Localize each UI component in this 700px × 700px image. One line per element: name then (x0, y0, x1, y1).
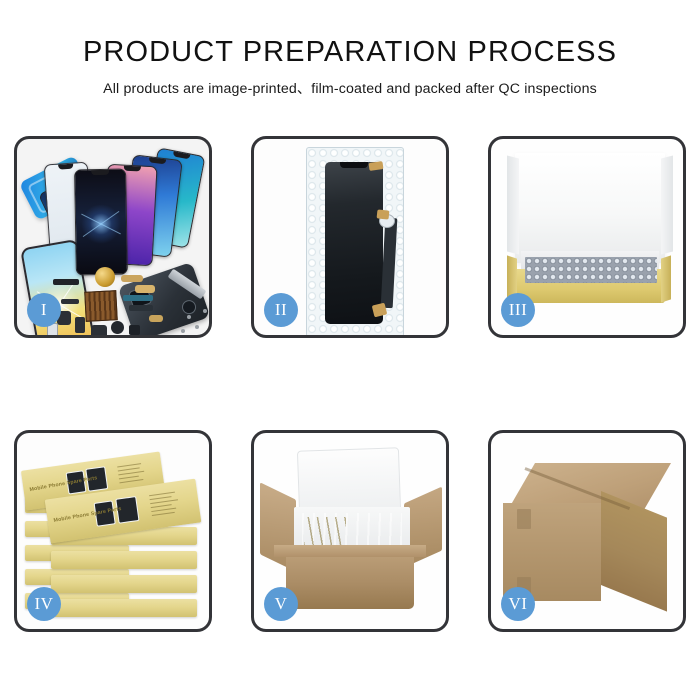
component-part (129, 305, 153, 311)
step-panel-5[interactable]: V (251, 430, 449, 632)
bubble-fill-icon (525, 257, 657, 283)
box-print-line (119, 476, 139, 480)
component-part (111, 321, 124, 334)
box-print-line (150, 499, 178, 504)
screw-icon (195, 325, 199, 329)
step-badge-6: VI (501, 587, 535, 621)
component-part (123, 295, 153, 301)
step-badge-4: IV (27, 587, 61, 621)
step-panel-3[interactable]: III (488, 136, 686, 338)
tape-piece-icon (377, 209, 390, 219)
chip-grid-icon (84, 290, 118, 322)
phone-screen-dark-icon (74, 169, 128, 276)
process-step-grid: I II III (14, 136, 686, 642)
step-panel-1[interactable]: I (14, 136, 212, 338)
stacked-box (51, 551, 197, 569)
screw-icon (187, 315, 191, 319)
gold-coil-icon (95, 267, 115, 287)
box-print-line (152, 512, 175, 516)
page-title: PRODUCT PREPARATION PROCESS (0, 0, 700, 69)
carton-side-face-icon (601, 491, 667, 612)
component-part (61, 299, 79, 304)
box-print-line (118, 471, 144, 476)
component-part (135, 285, 155, 293)
carton-tape-icon (517, 509, 531, 529)
component-part (91, 325, 107, 335)
step-badge-2: II (264, 293, 298, 327)
page-header: PRODUCT PREPARATION PROCESS All products… (0, 0, 700, 98)
bubble-wrap-bag-icon (306, 147, 404, 335)
screw-icon (181, 329, 185, 333)
component-part (149, 315, 163, 322)
screw-icon (203, 309, 207, 313)
component-part (129, 325, 140, 335)
foam-lid-icon (297, 447, 401, 515)
step-panel-6[interactable]: VI (488, 430, 686, 632)
step-badge-1: I (27, 293, 61, 327)
step-badge-3: III (501, 293, 535, 327)
wrapped-screen-icon (325, 162, 383, 324)
step-panel-2[interactable]: II (251, 136, 449, 338)
box-print-line (119, 479, 143, 483)
stacked-box (51, 575, 197, 593)
component-part (121, 275, 143, 282)
stacked-box (51, 599, 197, 617)
box-print-line (151, 504, 172, 508)
component-part (75, 317, 85, 333)
carton-body-icon (286, 551, 414, 609)
component-part (53, 279, 79, 285)
white-box-lid-icon (515, 153, 665, 263)
wallpaper-burst-icon (81, 204, 122, 245)
step-panel-4[interactable]: Mobile Phone Spare Parts Mobile Phone Sp… (14, 430, 212, 632)
step-badge-5: V (264, 587, 298, 621)
page-subtitle: All products are image-printed、film-coat… (0, 69, 700, 98)
